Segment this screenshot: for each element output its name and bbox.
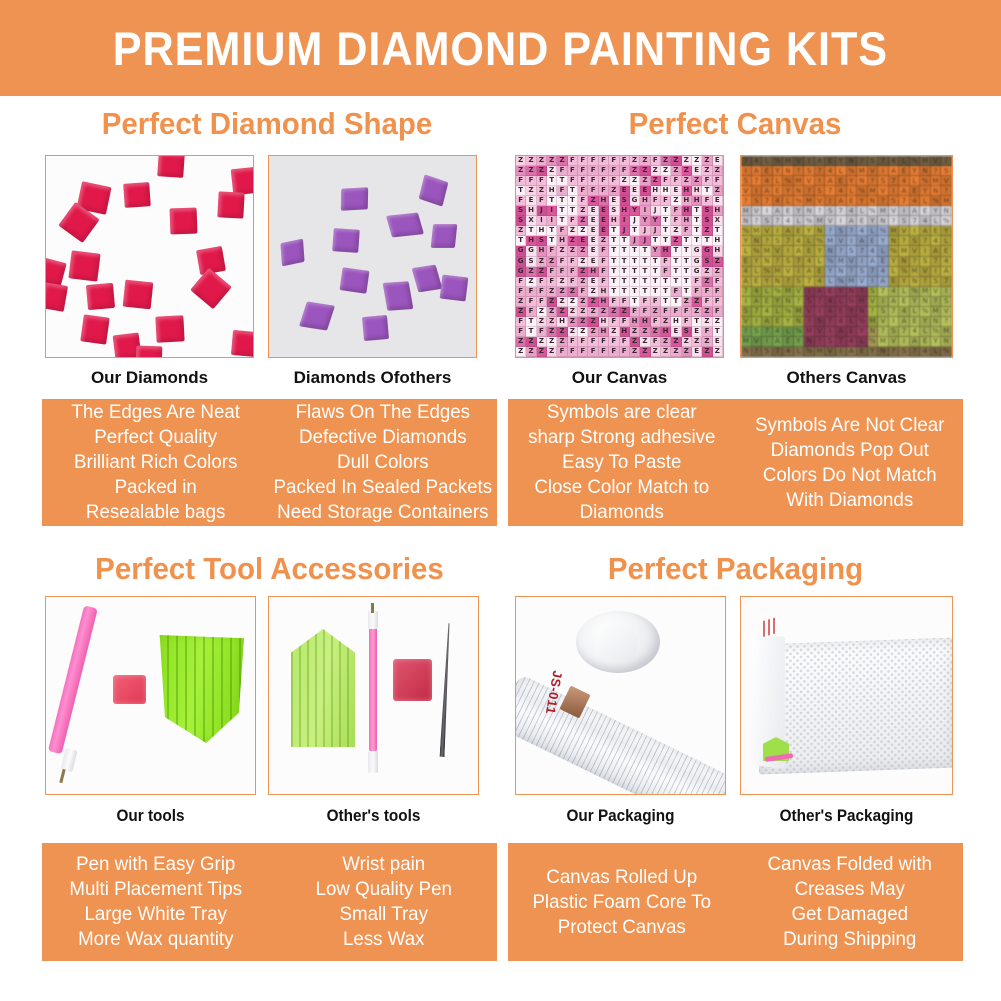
canvas-symbol-cell-blurred: 7 xyxy=(804,277,815,287)
canvas-symbol-cell-blurred: E xyxy=(847,327,858,337)
canvas-symbol-cell: Z xyxy=(588,287,598,297)
canvas-symbol-cell: F xyxy=(620,166,630,176)
canvas-symbol-cell: E xyxy=(588,216,598,226)
canvas-symbol-cell-blurred: 4 xyxy=(804,257,815,267)
canvas-symbol-cell-blurred: N xyxy=(889,236,900,246)
canvas-symbol-cell-blurred: V xyxy=(899,226,910,236)
canvas-symbol-cell-blurred: S xyxy=(752,327,763,337)
canvas-symbol-cell: J xyxy=(630,236,640,246)
canvas-symbol-cell: Z xyxy=(692,176,702,186)
canvas-symbol-cell: Z xyxy=(702,337,712,347)
canvas-symbol-cell-blurred: 4 xyxy=(773,196,784,206)
canvas-symbol-cell-blurred: V xyxy=(783,267,794,277)
canvas-symbol-cell-blurred: L xyxy=(931,347,942,357)
canvas-symbol-cell: F xyxy=(578,347,588,357)
canvas-symbol-cell: Z xyxy=(702,347,712,357)
canvas-symbol-cell: J xyxy=(537,206,547,216)
canvas-symbol-cell-blurred: ? xyxy=(847,267,858,277)
page-title: PREMIUM DIAMOND PAINTING KITS xyxy=(113,21,888,76)
panel-line: sharp Strong adhesive xyxy=(528,425,715,450)
canvas-symbol-cell-blurred: Y xyxy=(868,347,879,357)
canvas-symbol-cell: Z xyxy=(578,246,588,256)
drill xyxy=(231,330,254,357)
canvas-symbol-cell: F xyxy=(620,156,630,166)
canvas-symbol-cell-blurred: I xyxy=(836,347,847,357)
canvas-symbol-cell-blurred: ? xyxy=(899,236,910,246)
canvas-symbol-cell-blurred: ? xyxy=(889,216,900,226)
canvas-symbol-cell-blurred: Y xyxy=(773,297,784,307)
canvas-symbol-cell: T xyxy=(640,267,650,277)
canvas-symbol-cell: Z xyxy=(516,297,526,307)
canvas-symbol-cell: Z xyxy=(578,317,588,327)
canvas-symbol-cell-blurred: M xyxy=(762,246,773,256)
canvas-symbol-cell-blurred: ? xyxy=(931,297,942,307)
canvas-symbol-cell: F xyxy=(568,216,578,226)
canvas-symbol-cell: Z xyxy=(516,156,526,166)
canvas-symbol-cell-blurred: A xyxy=(941,267,952,277)
canvas-symbol-cell-blurred: E xyxy=(773,317,784,327)
canvas-symbol-cell-blurred: ? xyxy=(762,236,773,246)
panel-line: Packed In Sealed Packets xyxy=(274,475,493,500)
canvas-symbol-cell-blurred: A xyxy=(815,156,826,166)
canvas-symbol-cell: H xyxy=(661,246,671,256)
canvas-symbol-cell: T xyxy=(671,277,681,287)
canvas-symbol-cell-blurred: 7 xyxy=(836,337,847,347)
canvas-symbol-cell-blurred: % xyxy=(783,176,794,186)
canvas-symbol-cell: T xyxy=(671,257,681,267)
canvas-symbol-cell-blurred: M xyxy=(868,317,879,327)
wax-square-icon xyxy=(113,675,146,704)
drill xyxy=(157,155,185,178)
canvas-symbol-cell-blurred: L xyxy=(857,337,868,347)
canvas-symbol-cell: Z xyxy=(568,246,578,256)
canvas-symbol-cell: F xyxy=(588,337,598,347)
canvas-symbol-cell: T xyxy=(692,236,702,246)
canvas-symbol-cell: F xyxy=(578,176,588,186)
canvas-symbol-cell-blurred: I xyxy=(889,317,900,327)
canvas-symbol-cell-blurred: ? xyxy=(825,226,836,236)
canvas-symbol-cell: F xyxy=(651,156,661,166)
canvas-symbol-cell: X xyxy=(713,216,723,226)
canvas-symbol-cell: T xyxy=(692,206,702,216)
our-tools-photo xyxy=(45,596,256,795)
canvas-symbol-cell-blurred: M xyxy=(868,186,879,196)
canvas-symbol-cell-blurred: ? xyxy=(752,216,763,226)
canvas-symbol-cell: Z xyxy=(640,166,650,176)
canvas-symbol-cell-blurred: E xyxy=(941,246,952,256)
canvas-symbol-cell-blurred: % xyxy=(941,216,952,226)
canvas-symbol-cell: Z xyxy=(702,267,712,277)
canvas-symbol-cell-blurred: A xyxy=(931,246,942,256)
canvas-symbol-cell: T xyxy=(630,226,640,236)
canvas-symbol-cell: F xyxy=(578,337,588,347)
canvas-symbol-cell: F xyxy=(557,267,567,277)
canvas-symbol-cell-blurred: I xyxy=(868,277,879,287)
canvas-symbol-cell: F xyxy=(640,297,650,307)
canvas-symbol-cell-blurred: M xyxy=(741,206,752,216)
canvas-symbol-cell: Z xyxy=(682,156,692,166)
canvas-symbol-grid-blurred: 74L%MVIAEYN?S74L%MVIIAEYN?S74L%MVIAEYN?S… xyxy=(741,156,952,357)
canvas-symbol-cell: F xyxy=(713,297,723,307)
canvas-symbol-cell-blurred: L xyxy=(752,267,763,277)
canvas-symbol-cell-blurred: I xyxy=(910,226,921,236)
canvas-symbol-cell-blurred: I xyxy=(878,166,889,176)
canvas-symbol-cell-blurred: 4 xyxy=(920,347,931,357)
canvas-symbol-cell-blurred: V xyxy=(752,206,763,216)
canvas-symbol-cell-blurred: % xyxy=(794,196,805,206)
canvas-symbol-cell-blurred: % xyxy=(910,287,921,297)
canvas-symbol-cell-blurred: N xyxy=(857,176,868,186)
canvas-symbol-cell: Z xyxy=(568,327,578,337)
canvas-symbol-cell: Z xyxy=(537,347,547,357)
canvas-symbol-cell: T xyxy=(547,236,557,246)
canvas-symbol-cell-blurred: I xyxy=(889,186,900,196)
canvas-symbol-cell-blurred: % xyxy=(741,226,752,236)
canvas-symbol-cell-blurred: V xyxy=(868,166,879,176)
canvas-symbol-cell: Z xyxy=(557,277,567,287)
canvas-symbol-cell: Z xyxy=(537,267,547,277)
canvas-symbol-cell: Z xyxy=(568,317,578,327)
canvas-symbol-cell-blurred: E xyxy=(794,226,805,236)
canvas-symbol-cell-blurred: 4 xyxy=(868,246,879,256)
canvas-symbol-cell: H xyxy=(526,206,536,216)
canvas-symbol-cell-blurred: ? xyxy=(752,347,763,357)
canvas-symbol-cell: T xyxy=(609,236,619,246)
canvas-symbol-cell-blurred: 4 xyxy=(836,186,847,196)
canvas-symbol-cell-blurred: N xyxy=(920,166,931,176)
canvas-symbol-cell-blurred: Y xyxy=(931,206,942,216)
canvas-symbol-cell-blurred: N xyxy=(847,156,858,166)
canvas-symbol-cell-blurred: E xyxy=(847,196,858,206)
canvas-symbol-cell-blurred: S xyxy=(941,297,952,307)
canvas-symbol-cell-blurred: E xyxy=(910,317,921,327)
pink-symbol-canvas-photo: ZZZZZFFFFFFZZFZZZZZEZZZZFFFFFFFZZZZZZEZZ… xyxy=(515,155,724,358)
canvas-symbol-cell-blurred: ? xyxy=(773,257,784,267)
canvas-symbol-cell-blurred: N xyxy=(836,267,847,277)
canvas-symbol-cell: F xyxy=(516,317,526,327)
canvas-symbol-cell-blurred: S xyxy=(868,156,879,166)
canvas-symbol-cell: E xyxy=(671,327,681,337)
canvas-symbol-cell: F xyxy=(682,307,692,317)
canvas-symbol-cell-blurred: % xyxy=(825,257,836,267)
canvas-symbol-cell-blurred: % xyxy=(762,267,773,277)
canvas-symbol-cell: F xyxy=(547,267,557,277)
drill xyxy=(383,281,414,311)
canvas-symbol-cell: F xyxy=(671,307,681,317)
caption-diamonds-ofothers: Diamonds Ofothers xyxy=(268,368,477,388)
canvas-symbol-cell: T xyxy=(630,277,640,287)
panel-tools: Pen with Easy GripMulti Placement TipsLa… xyxy=(42,843,497,961)
canvas-symbol-cell: F xyxy=(599,267,609,277)
canvas-symbol-cell-blurred: I xyxy=(783,246,794,256)
canvas-symbol-cell: Z xyxy=(630,347,640,357)
canvas-symbol-cell: F xyxy=(620,347,630,357)
panel-line: Symbols Are Not Clear xyxy=(755,413,944,438)
canvas-symbol-cell-blurred: A xyxy=(773,206,784,216)
canvas-symbol-cell: E xyxy=(713,196,723,206)
canvas-symbol-cell: Z xyxy=(516,337,526,347)
canvas-symbol-cell: I xyxy=(537,216,547,226)
canvas-symbol-cell: H xyxy=(599,297,609,307)
purple-irregular-drills-photo xyxy=(268,155,477,358)
drill xyxy=(170,208,198,235)
canvas-symbol-cell: Z xyxy=(537,166,547,176)
canvas-symbol-cell: G xyxy=(516,257,526,267)
canvas-symbol-cell: F xyxy=(578,166,588,176)
canvas-symbol-cell: Z xyxy=(630,166,640,176)
canvas-symbol-cell-blurred: S xyxy=(836,226,847,236)
canvas-symbol-cell-blurred: E xyxy=(889,277,900,287)
canvas-symbol-cell-blurred: E xyxy=(868,236,879,246)
canvas-symbol-cell-blurred: 7 xyxy=(836,206,847,216)
canvas-symbol-cell-blurred: % xyxy=(931,327,942,337)
canvas-symbol-cell: Y xyxy=(630,206,640,216)
panel-line: Need Storage Containers xyxy=(278,500,489,525)
canvas-symbol-cell: F xyxy=(671,176,681,186)
canvas-symbol-cell: T xyxy=(557,176,567,186)
canvas-symbol-cell: T xyxy=(661,216,671,226)
canvas-symbol-cell: F xyxy=(620,337,630,347)
canvas-symbol-cell-blurred: S xyxy=(773,236,784,246)
canvas-symbol-cell: H xyxy=(671,317,681,327)
canvas-symbol-cell: T xyxy=(671,267,681,277)
canvas-symbol-cell-blurred: 4 xyxy=(752,156,763,166)
canvas-symbol-cell-blurred: % xyxy=(804,347,815,357)
panel-line: Pen with Easy Grip xyxy=(76,852,235,877)
canvas-symbol-cell-blurred: % xyxy=(804,216,815,226)
canvas-symbol-cell-blurred: A xyxy=(762,317,773,327)
canvas-symbol-cell-blurred: Y xyxy=(783,317,794,327)
canvas-symbol-cell: F xyxy=(702,327,712,337)
canvas-symbol-cell: T xyxy=(692,216,702,226)
canvas-symbol-cell-blurred: S xyxy=(794,277,805,287)
canvas-symbol-cell-blurred: ? xyxy=(815,337,826,347)
canvas-symbol-cell-blurred: E xyxy=(836,176,847,186)
canvas-symbol-cell-blurred: N xyxy=(741,216,752,226)
panel-line: Plastic Foam Core To xyxy=(532,890,711,915)
canvas-symbol-cell-blurred: 7 xyxy=(825,186,836,196)
canvas-symbol-cell: T xyxy=(661,206,671,216)
canvas-symbol-cell-blurred: A xyxy=(773,337,784,347)
canvas-symbol-cell-blurred: 7 xyxy=(878,287,889,297)
canvas-symbol-cell: Z xyxy=(651,327,661,337)
canvas-symbol-cell-blurred: A xyxy=(794,246,805,256)
canvas-symbol-cell: F xyxy=(578,186,588,196)
canvas-symbol-cell: E xyxy=(692,166,702,176)
section-heading-canvas: Perfect Canvas xyxy=(521,106,949,142)
rolled-tube-packaging-photo: JS-011 xyxy=(515,596,726,795)
canvas-symbol-cell: E xyxy=(578,236,588,246)
canvas-symbol-cell-blurred: S xyxy=(741,176,752,186)
canvas-symbol-cell: F xyxy=(713,176,723,186)
canvas-symbol-cell-blurred: M xyxy=(910,267,921,277)
canvas-symbol-cell: T xyxy=(609,257,619,267)
canvas-symbol-cell: Z xyxy=(537,257,547,267)
canvas-symbol-cell-blurred: V xyxy=(804,307,815,317)
canvas-symbol-cell-blurred: S xyxy=(889,196,900,206)
canvas-symbol-cell-blurred: I xyxy=(762,206,773,216)
canvas-symbol-cell-blurred: N xyxy=(825,246,836,256)
canvas-symbol-cell: Z xyxy=(547,327,557,337)
canvas-symbol-cell: F xyxy=(557,347,567,357)
canvas-symbol-cell: T xyxy=(568,196,578,206)
canvas-symbol-cell: F xyxy=(568,176,578,186)
canvas-symbol-cell-blurred: L xyxy=(878,246,889,256)
canvas-symbol-cell: T xyxy=(620,257,630,267)
canvas-symbol-cell: G xyxy=(516,246,526,256)
canvas-symbol-cell-blurred: S xyxy=(920,257,931,267)
canvas-symbol-cell-blurred: ? xyxy=(857,156,868,166)
canvas-symbol-cell: F xyxy=(578,156,588,166)
canvas-symbol-cell: E xyxy=(599,216,609,226)
canvas-symbol-cell-blurred: L xyxy=(889,267,900,277)
canvas-symbol-cell: Z xyxy=(682,347,692,357)
canvas-symbol-cell: I xyxy=(547,206,557,216)
canvas-symbol-cell-blurred: N xyxy=(783,297,794,307)
canvas-symbol-cell-blurred: E xyxy=(857,347,868,357)
canvas-symbol-cell: F xyxy=(609,166,619,176)
canvas-symbol-cell-blurred: L xyxy=(804,236,815,246)
red-square-drills-photo xyxy=(45,155,254,358)
canvas-symbol-cell: Z xyxy=(682,297,692,307)
canvas-symbol-cell: H xyxy=(547,186,557,196)
canvas-symbol-cell-blurred: I xyxy=(920,246,931,256)
canvas-symbol-cell: Z xyxy=(516,347,526,357)
canvas-symbol-cell-blurred: ? xyxy=(920,277,931,287)
canvas-symbol-cell-blurred: 7 xyxy=(910,347,921,357)
canvas-symbol-cell: F xyxy=(537,176,547,186)
canvas-symbol-cell-blurred: Y xyxy=(794,337,805,347)
drill xyxy=(431,224,458,248)
canvas-symbol-cell-blurred: ? xyxy=(794,297,805,307)
canvas-symbol-cell: F xyxy=(516,327,526,337)
canvas-symbol-cell-blurred: M xyxy=(920,287,931,297)
canvas-symbol-cell: T xyxy=(651,287,661,297)
canvas-symbol-cell: F xyxy=(516,277,526,287)
canvas-symbol-cell: Z xyxy=(713,317,723,327)
panel-line: The Edges Are Neat xyxy=(71,400,240,425)
tube-cap-nozzle xyxy=(596,623,638,663)
canvas-symbol-cell-blurred: E xyxy=(899,166,910,176)
canvas-symbol-cell-blurred: 4 xyxy=(941,257,952,267)
canvas-symbol-cell-blurred: V xyxy=(941,176,952,186)
canvas-symbol-cell: H xyxy=(640,317,650,327)
canvas-symbol-cell-blurred: Y xyxy=(857,327,868,337)
canvas-symbol-cell: F xyxy=(568,337,578,347)
canvas-symbol-cell: T xyxy=(620,246,630,256)
canvas-symbol-cell-blurred: N xyxy=(741,347,752,357)
canvas-symbol-cell: H xyxy=(537,226,547,236)
canvas-symbol-cell-blurred: N xyxy=(868,327,879,337)
canvas-symbol-cell-blurred: A xyxy=(847,216,858,226)
canvas-symbol-cell: Z xyxy=(599,307,609,317)
canvas-symbol-cell: Z xyxy=(526,166,536,176)
canvas-symbol-cell: T xyxy=(568,206,578,216)
canvas-symbol-cell: Z xyxy=(526,347,536,357)
canvas-symbol-cell-blurred: 4 xyxy=(920,216,931,226)
canvas-symbol-cell-blurred: 4 xyxy=(836,317,847,327)
canvas-symbol-cell: Z xyxy=(526,156,536,166)
panel-line: More Wax quantity xyxy=(78,927,233,952)
canvas-symbol-cell: H xyxy=(682,186,692,196)
canvas-symbol-cell-blurred: I xyxy=(899,206,910,216)
canvas-symbol-cell-blurred: A xyxy=(910,206,921,216)
canvas-symbol-cell-blurred: A xyxy=(815,287,826,297)
canvas-symbol-cell-blurred: 7 xyxy=(889,176,900,186)
caption-other-packaging: Other's Packaging xyxy=(751,806,943,826)
canvas-symbol-cell-blurred: 7 xyxy=(773,347,784,357)
canvas-symbol-cell-blurred: M xyxy=(878,337,889,347)
canvas-symbol-cell: Z xyxy=(620,307,630,317)
canvas-symbol-cell: T xyxy=(651,277,661,287)
panel-line: Wrist pain xyxy=(342,852,425,877)
canvas-symbol-cell: Z xyxy=(661,166,671,176)
canvas-symbol-cell-blurred: L xyxy=(741,246,752,256)
canvas-symbol-cell-blurred: L xyxy=(920,196,931,206)
canvas-symbol-cell: S xyxy=(516,216,526,226)
canvas-symbol-cell-blurred: E xyxy=(910,186,921,196)
canvas-symbol-cell-blurred: L xyxy=(762,156,773,166)
section-heading-packaging: Perfect Packaging xyxy=(519,551,951,587)
canvas-symbol-cell: Z xyxy=(557,337,567,347)
canvas-symbol-cell: T xyxy=(692,317,702,327)
canvas-symbol-cell-blurred: M xyxy=(889,226,900,236)
canvas-symbol-cell-blurred: 4 xyxy=(847,206,858,216)
canvas-symbol-cell: H xyxy=(651,186,661,196)
canvas-symbol-cell-blurred: V xyxy=(804,176,815,186)
canvas-symbol-cell-blurred: I xyxy=(815,307,826,317)
canvas-symbol-cell-blurred: 4 xyxy=(910,327,921,337)
canvas-symbol-cell: T xyxy=(682,257,692,267)
canvas-symbol-cell-blurred: ? xyxy=(815,206,826,216)
canvas-symbol-cell-blurred: S xyxy=(931,277,942,287)
canvas-symbol-cell: Z xyxy=(547,317,557,327)
canvas-symbol-cell-blurred: ? xyxy=(857,287,868,297)
canvas-symbol-cell: T xyxy=(557,206,567,216)
canvas-symbol-cell-blurred: S xyxy=(899,216,910,226)
canvas-symbol-cell: E xyxy=(640,186,650,196)
canvas-symbol-cell-blurred: L xyxy=(815,257,826,267)
panel-column-ours: Symbols are clearsharp Strong adhesiveEa… xyxy=(513,399,731,526)
canvas-symbol-cell: Z xyxy=(568,226,578,236)
canvas-symbol-cell: T xyxy=(557,196,567,206)
caption-our-canvas: Our Canvas xyxy=(515,368,724,388)
canvas-symbol-cell: Z xyxy=(702,277,712,287)
canvas-symbol-cell-blurred: 7 xyxy=(783,236,794,246)
canvas-symbol-cell-blurred: Y xyxy=(899,277,910,287)
canvas-symbol-cell-blurred: A xyxy=(752,166,763,176)
canvas-symbol-cell: T xyxy=(661,277,671,287)
canvas-symbol-cell: Z xyxy=(651,166,661,176)
canvas-symbol-cell-blurred: 7 xyxy=(794,257,805,267)
canvas-symbol-cell: T xyxy=(671,297,681,307)
tray-ridges xyxy=(291,629,355,747)
canvas-symbol-cell: H xyxy=(713,246,723,256)
canvas-symbol-cell: S xyxy=(526,257,536,267)
canvas-symbol-cell: Z xyxy=(578,307,588,317)
canvas-symbol-cell-blurred: V xyxy=(752,337,763,347)
canvas-symbol-cell-blurred: N xyxy=(931,186,942,196)
panel-line: Defective Diamonds xyxy=(299,425,467,450)
canvas-symbol-cell-blurred: E xyxy=(815,267,826,277)
canvas-symbol-cell-blurred: % xyxy=(899,267,910,277)
canvas-symbol-cell-blurred: Y xyxy=(910,166,921,176)
canvas-symbol-cell: H xyxy=(620,206,630,216)
canvas-symbol-cell-blurred: E xyxy=(773,186,784,196)
canvas-symbol-cell-blurred: M xyxy=(804,327,815,337)
canvas-symbol-cell-blurred: V xyxy=(847,257,858,267)
canvas-symbol-cell: Z xyxy=(526,186,536,196)
